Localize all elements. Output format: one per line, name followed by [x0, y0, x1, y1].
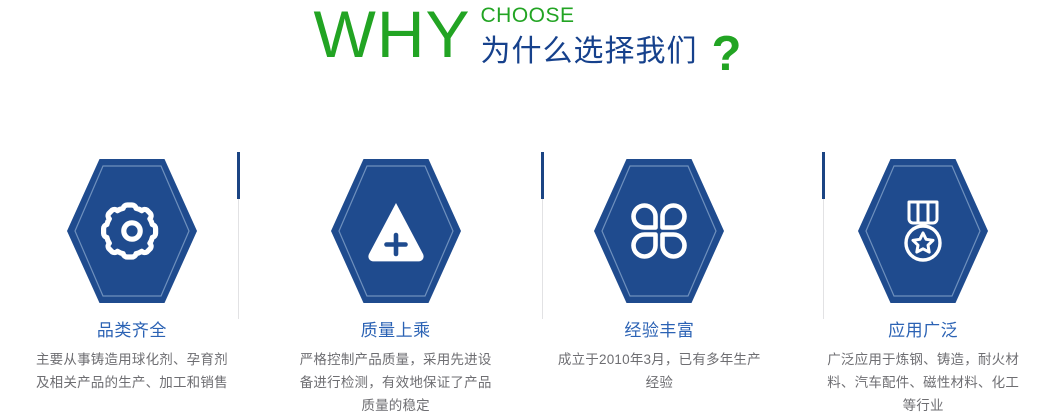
- card-title: 品类齐全: [97, 320, 167, 342]
- gear-icon: [67, 156, 197, 306]
- card-description: 主要从事铸造用球化剂、孕育剂及相关产品的生产、加工和销售: [29, 348, 234, 394]
- hexagon-badge: [67, 156, 197, 306]
- hexagon-badge: [858, 156, 988, 306]
- question-mark-icon: ?: [712, 33, 742, 75]
- header-inner: WHY CHOOSE 为什么选择我们 ?: [314, 0, 742, 72]
- feature-card[interactable]: 质量上乘 严格控制产品质量，采用先进设备进行检测，有效地保证了产品质量的稳定: [264, 148, 528, 416]
- card-title: 质量上乘: [361, 320, 431, 342]
- feature-card[interactable]: 应用广泛 广泛应用于炼钢、铸造，耐火材料、汽车配件、磁性材料、化工等行业: [791, 148, 1055, 416]
- heading-why: WHY: [314, 0, 471, 70]
- heading-subtitle-row: 为什么选择我们 ?: [481, 29, 742, 71]
- card-title: 应用广泛: [888, 320, 958, 342]
- heading-choose: CHOOSE: [481, 4, 742, 27]
- hexagon-badge: [594, 156, 724, 306]
- feature-card[interactable]: 品类齐全 主要从事铸造用球化剂、孕育剂及相关产品的生产、加工和销售: [0, 148, 264, 416]
- card-description: 广泛应用于炼钢、铸造，耐火材料、汽车配件、磁性材料、化工等行业: [821, 348, 1026, 416]
- triangle-plus-icon: [331, 156, 461, 306]
- medal-star-icon: [858, 156, 988, 306]
- card-description: 严格控制产品质量，采用先进设备进行检测，有效地保证了产品质量的稳定: [293, 348, 498, 416]
- why-choose-us-section: WHY CHOOSE 为什么选择我们 ?: [0, 0, 1055, 416]
- hexagon-badge: [331, 156, 461, 306]
- feature-card[interactable]: 经验丰富 成立于2010年3月，已有多年生产经验: [528, 148, 792, 416]
- section-header: WHY CHOOSE 为什么选择我们 ?: [0, 0, 1055, 100]
- feature-cards-row: 品类齐全 主要从事铸造用球化剂、孕育剂及相关产品的生产、加工和销售 质量上乘 严…: [0, 148, 1055, 416]
- heading-chinese-subtitle: 为什么选择我们: [481, 33, 698, 71]
- four-petal-clover-icon: [594, 156, 724, 306]
- card-description: 成立于2010年3月，已有多年生产经验: [557, 348, 762, 394]
- card-title: 经验丰富: [624, 320, 694, 342]
- heading-stack: CHOOSE 为什么选择我们 ?: [481, 0, 742, 71]
